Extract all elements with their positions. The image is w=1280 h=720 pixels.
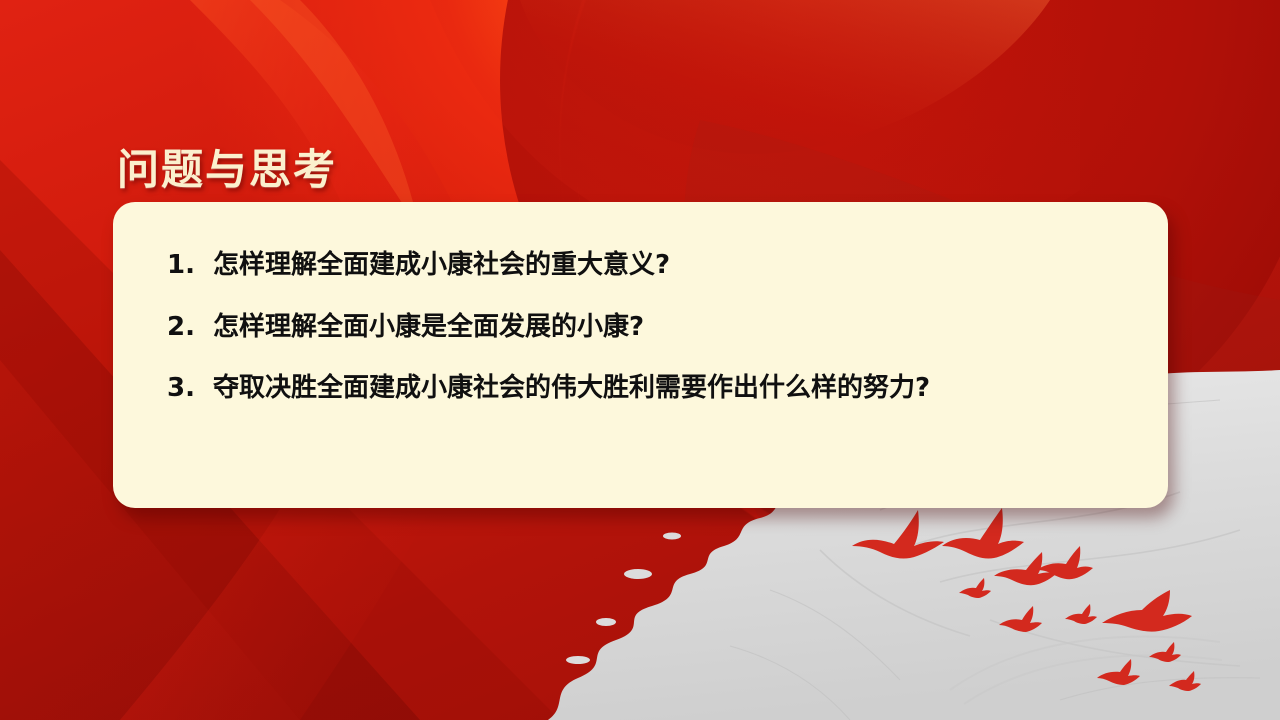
list-item-number: 3. (167, 372, 213, 405)
list-item: 2. 怎样理解全面小康是全面发展的小康? (167, 311, 1128, 344)
list-item-text: 怎样理解全面小康是全面发展的小康? (213, 311, 1128, 344)
page-title: 问题与思考 (117, 136, 337, 197)
presentation-slide: 问题与思考 1. 怎样理解全面建成小康社会的重大意义? 2. 怎样理解全面小康是… (0, 0, 1280, 720)
question-list: 1. 怎样理解全面建成小康社会的重大意义? 2. 怎样理解全面小康是全面发展的小… (167, 249, 1128, 405)
list-item-number: 2. (167, 311, 213, 344)
list-item-text: 怎样理解全面建成小康社会的重大意义? (213, 249, 1128, 282)
question-card: 1. 怎样理解全面建成小康社会的重大意义? 2. 怎样理解全面小康是全面发展的小… (113, 202, 1168, 508)
list-item: 1. 怎样理解全面建成小康社会的重大意义? (167, 249, 1128, 282)
list-item-number: 1. (167, 249, 213, 282)
list-item-text: 夺取决胜全面建成小康社会的伟大胜利需要作出什么样的努力? (213, 372, 1128, 405)
list-item: 3. 夺取决胜全面建成小康社会的伟大胜利需要作出什么样的努力? (167, 372, 1128, 405)
